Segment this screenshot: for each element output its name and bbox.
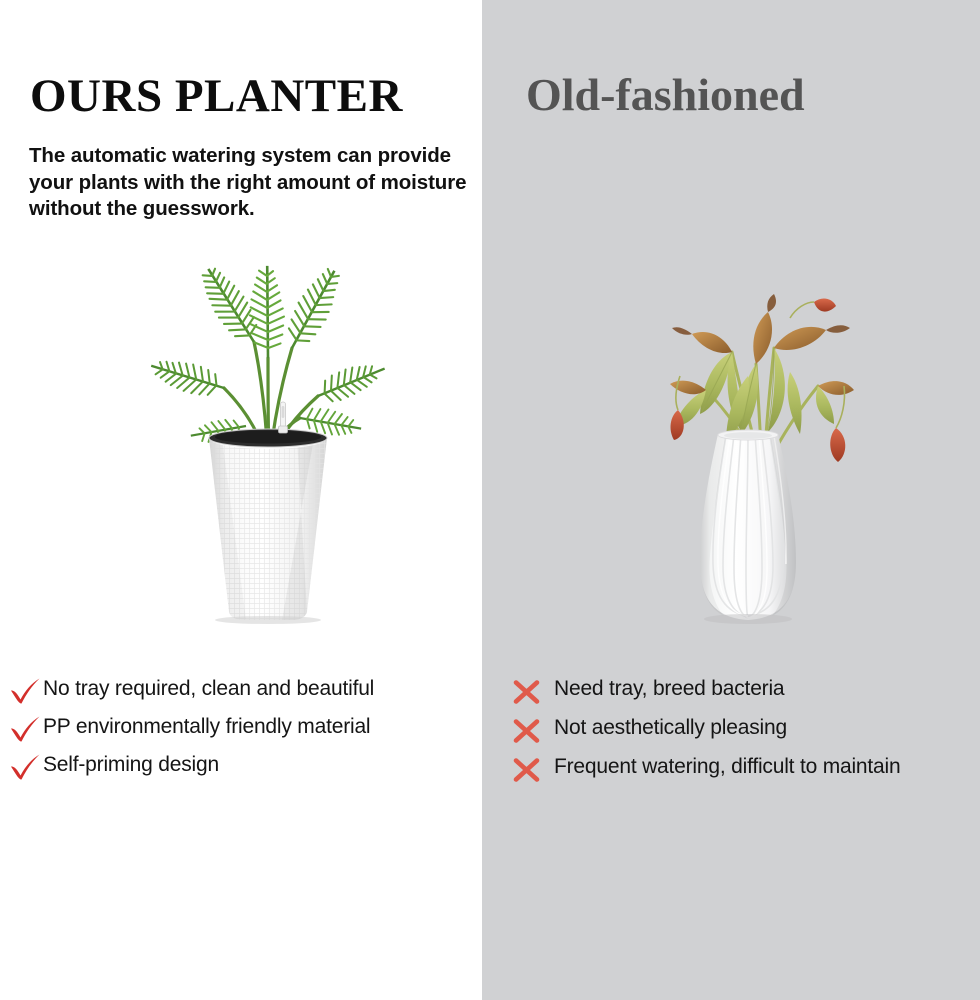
list-item: PP environmentally friendly material [8, 714, 428, 742]
right-feature-list: Need tray, breed bacteria Not aesthetica… [510, 676, 960, 793]
list-item-label: Frequent watering, difficult to maintain [544, 754, 900, 780]
list-item-label: Self-priming design [42, 752, 219, 778]
right-heading: Old-fashioned [526, 68, 966, 122]
list-item: Need tray, breed bacteria [510, 676, 960, 705]
comparison-infographic: OURS PLANTER The automatic watering syst… [0, 0, 980, 1000]
x-icon [510, 679, 544, 705]
list-item-label: No tray required, clean and beautiful [42, 676, 374, 702]
x-icon [510, 718, 544, 744]
x-icon [510, 757, 544, 783]
left-feature-list: No tray required, clean and beautiful PP… [8, 676, 428, 790]
left-subtitle: The automatic watering system can provid… [29, 143, 484, 223]
list-item: Frequent watering, difficult to maintain [510, 754, 960, 783]
list-item: No tray required, clean and beautiful [8, 676, 428, 704]
list-item-label: PP environmentally friendly material [42, 714, 370, 740]
list-item-label: Need tray, breed bacteria [544, 676, 784, 702]
left-product-image [150, 230, 390, 625]
list-item-label: Not aesthetically pleasing [544, 715, 787, 741]
check-icon [8, 716, 42, 742]
white-self-watering-planter-icon [202, 426, 334, 624]
left-heading: OURS PLANTER [30, 70, 480, 122]
white-fluted-vase-icon [688, 430, 808, 626]
water-level-indicator-icon [276, 402, 290, 436]
list-item: Self-priming design [8, 752, 428, 780]
right-product-image [640, 268, 890, 628]
check-icon [8, 754, 42, 780]
list-item: Not aesthetically pleasing [510, 715, 960, 744]
check-icon [8, 678, 42, 704]
